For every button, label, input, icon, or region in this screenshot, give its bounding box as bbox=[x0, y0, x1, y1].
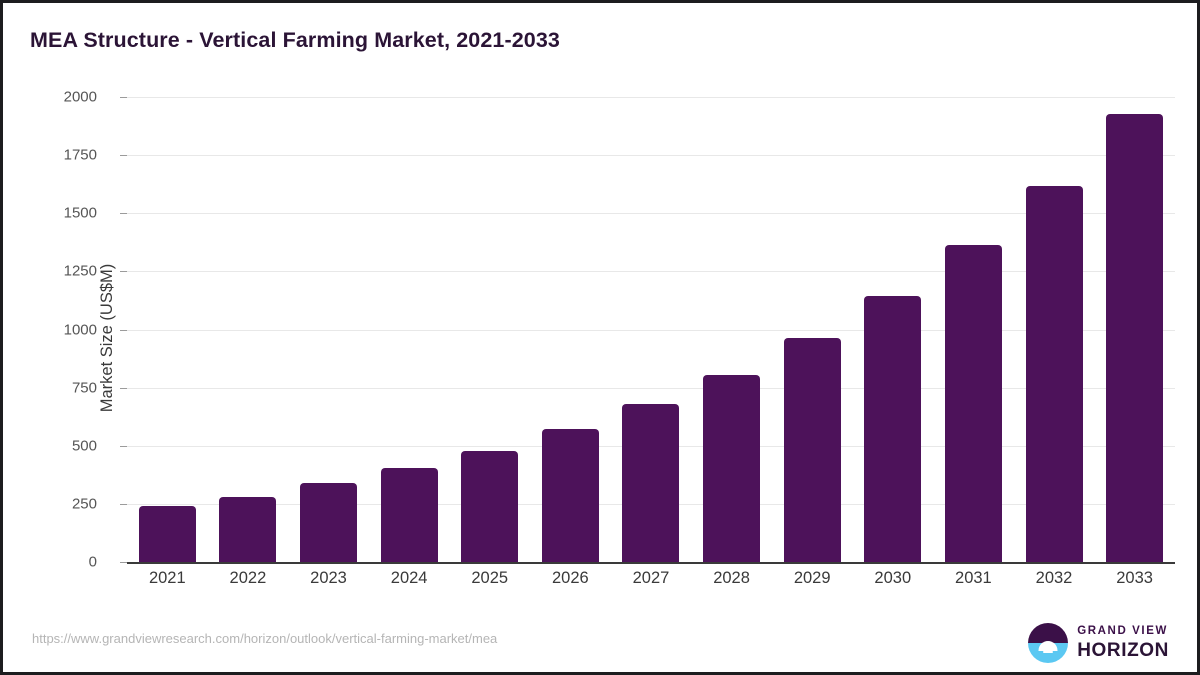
bar[interactable] bbox=[622, 404, 679, 562]
x-axis-labels: 2021202220232024202520262027202820292030… bbox=[127, 569, 1175, 599]
y-tick-label: 0 bbox=[27, 554, 97, 571]
bar-slot bbox=[208, 97, 289, 562]
logo-brand-bottom: HORIZON bbox=[1077, 641, 1169, 660]
x-tick-label: 2031 bbox=[933, 569, 1014, 599]
bar-slot bbox=[1094, 97, 1175, 562]
y-tick-label: 750 bbox=[27, 379, 97, 396]
bar[interactable] bbox=[1106, 114, 1163, 562]
y-tick-mark bbox=[120, 155, 127, 156]
logo-brand-top: GRAND VIEW bbox=[1077, 626, 1169, 638]
bar-slot bbox=[369, 97, 450, 562]
x-tick-label: 2025 bbox=[449, 569, 530, 599]
plot-area: 025050075010001250150017502000 bbox=[127, 97, 1175, 562]
bar[interactable] bbox=[219, 497, 276, 562]
grand-view-horizon-logo[interactable]: GRAND VIEW HORIZON bbox=[1028, 623, 1169, 663]
bar-slot bbox=[852, 97, 933, 562]
bar-slot bbox=[288, 97, 369, 562]
bar-slot bbox=[530, 97, 611, 562]
x-axis-line bbox=[127, 562, 1175, 564]
bar[interactable] bbox=[139, 506, 196, 562]
y-tick-mark bbox=[120, 562, 127, 563]
bar[interactable] bbox=[1026, 186, 1083, 562]
bar-slot bbox=[691, 97, 772, 562]
chart-canvas: MEA Structure - Vertical Farming Market,… bbox=[3, 3, 1197, 672]
horizon-sun-icon bbox=[1028, 623, 1068, 663]
x-tick-label: 2026 bbox=[530, 569, 611, 599]
y-tick-label: 2000 bbox=[27, 89, 97, 106]
y-tick-label: 250 bbox=[27, 495, 97, 512]
x-tick-label: 2023 bbox=[288, 569, 369, 599]
y-tick-label: 500 bbox=[27, 437, 97, 454]
x-tick-label: 2032 bbox=[1014, 569, 1095, 599]
bar-series bbox=[127, 97, 1175, 562]
bar-slot bbox=[449, 97, 530, 562]
x-tick-label: 2033 bbox=[1094, 569, 1175, 599]
x-tick-label: 2027 bbox=[611, 569, 692, 599]
y-tick-mark bbox=[120, 388, 127, 389]
y-tick-mark bbox=[120, 97, 127, 98]
y-tick-label: 1250 bbox=[27, 263, 97, 280]
bar[interactable] bbox=[703, 375, 760, 562]
y-tick-mark bbox=[120, 213, 127, 214]
chart-title: MEA Structure - Vertical Farming Market,… bbox=[30, 28, 560, 53]
logo-text: GRAND VIEW HORIZON bbox=[1077, 626, 1169, 660]
x-tick-label: 2030 bbox=[852, 569, 933, 599]
y-axis-label: Market Size (US$M) bbox=[98, 263, 117, 412]
bar-slot bbox=[127, 97, 208, 562]
y-tick-label: 1500 bbox=[27, 205, 97, 222]
bar-slot bbox=[1014, 97, 1095, 562]
sun-ray-line-2 bbox=[1043, 651, 1053, 653]
x-tick-label: 2028 bbox=[691, 569, 772, 599]
y-tick-mark bbox=[120, 330, 127, 331]
y-tick-label: 1000 bbox=[27, 321, 97, 338]
y-tick-mark bbox=[120, 271, 127, 272]
bar-slot bbox=[772, 97, 853, 562]
bar[interactable] bbox=[300, 483, 357, 562]
x-tick-label: 2029 bbox=[772, 569, 853, 599]
bar[interactable] bbox=[381, 468, 438, 562]
y-tick-label: 1750 bbox=[27, 147, 97, 164]
y-tick-mark bbox=[120, 504, 127, 505]
bar-slot bbox=[933, 97, 1014, 562]
bar[interactable] bbox=[542, 429, 599, 562]
bar-slot bbox=[611, 97, 692, 562]
bar[interactable] bbox=[945, 245, 1002, 562]
bar[interactable] bbox=[461, 451, 518, 562]
x-tick-label: 2024 bbox=[369, 569, 450, 599]
bar[interactable] bbox=[784, 338, 841, 562]
source-url[interactable]: https://www.grandviewresearch.com/horizo… bbox=[32, 631, 497, 646]
x-tick-label: 2021 bbox=[127, 569, 208, 599]
bar[interactable] bbox=[864, 296, 921, 562]
y-tick-mark bbox=[120, 446, 127, 447]
sun-ray-line-1 bbox=[1041, 647, 1056, 649]
x-tick-label: 2022 bbox=[208, 569, 289, 599]
